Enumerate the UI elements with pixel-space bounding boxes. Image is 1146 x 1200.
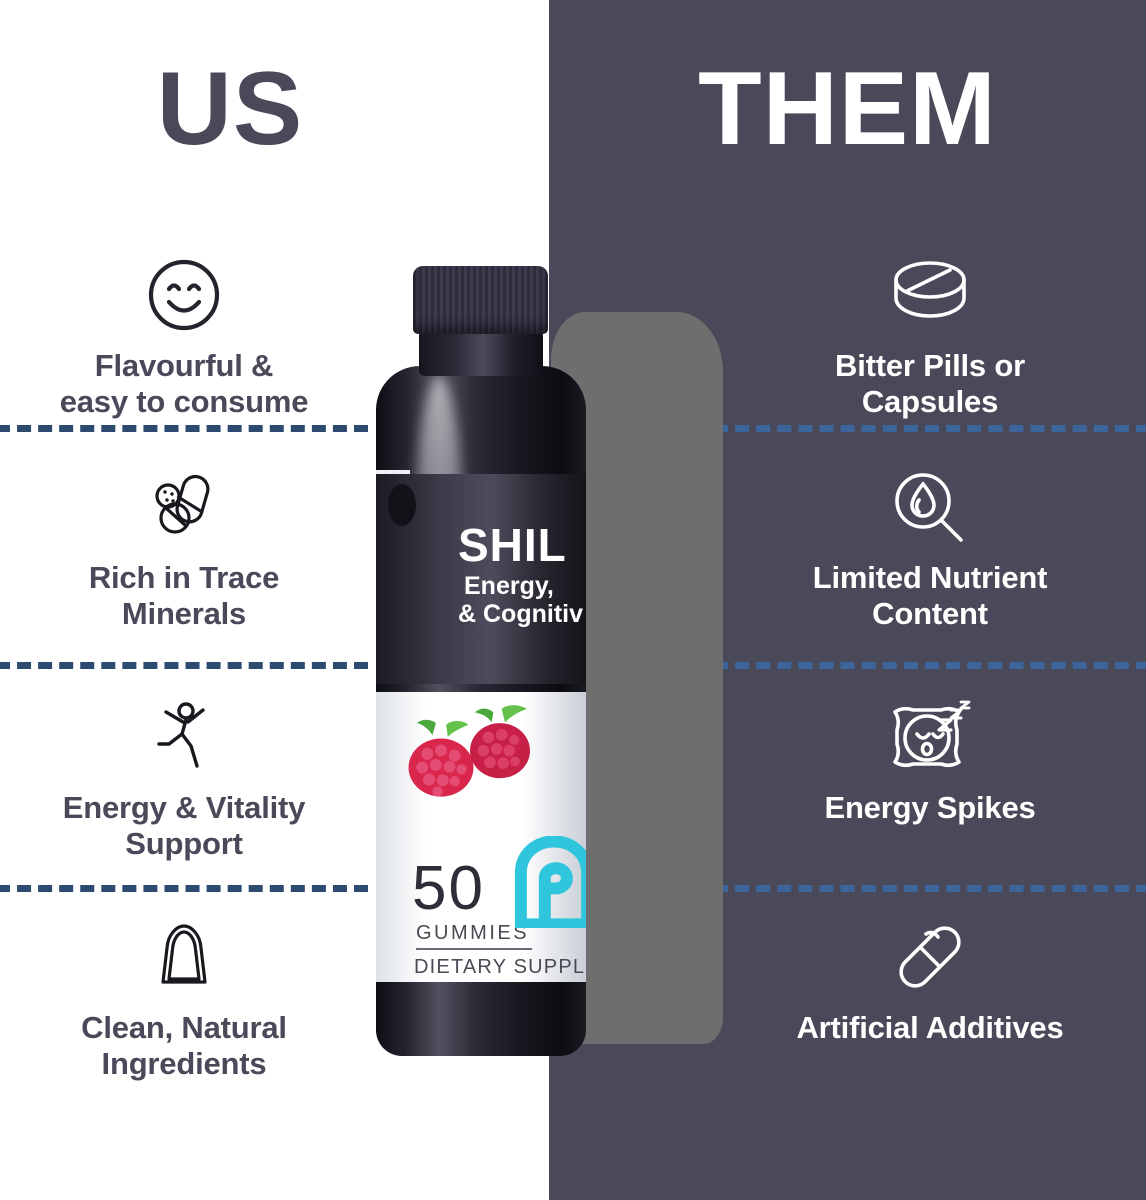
bottle-subtitle-line-2: & Cognitiv — [458, 600, 583, 629]
us-feature-minerals: Rich in Trace Minerals — [0, 470, 368, 632]
capsule-icon — [714, 920, 1146, 998]
us-feature-label: Flavourful & easy to consume — [60, 348, 309, 419]
raspberry-icon-2 — [458, 704, 542, 784]
us-feature-energy: Energy & Vitality Support — [0, 700, 368, 862]
sleeping-face-pillow-icon — [714, 700, 1146, 778]
us-feature-label: Energy & Vitality Support — [63, 790, 305, 861]
them-feature-limited-nutrient: Limited Nutrient Content — [714, 470, 1146, 632]
bottle-body: SHIL Energy, & Cognitiv — [376, 366, 586, 1056]
divider-right-2 — [714, 662, 1146, 669]
bottle-supplement-text: DIETARY SUPPLEME — [414, 956, 586, 979]
label-rule — [416, 948, 532, 950]
product-bottle-image: SHIL Energy, & Cognitiv — [349, 266, 599, 1056]
bottle-gummy-count: 50 — [412, 858, 485, 920]
tablet-pill-icon — [714, 258, 1146, 336]
us-feature-label: Clean, Natural Ingredients — [81, 1010, 287, 1081]
us-feature-natural: Clean, Natural Ingredients — [0, 920, 368, 1082]
them-feature-label: Bitter Pills or Capsules — [835, 348, 1025, 419]
bottle-neck — [419, 330, 543, 376]
them-feature-bitter-pills: Bitter Pills or Capsules — [714, 258, 1146, 420]
divider-left-3 — [0, 885, 368, 892]
smiley-face-icon — [0, 258, 368, 336]
comparison-infographic: US THEM SHIL Energy, & Cognitiv — [0, 0, 1146, 1200]
us-heading: US — [0, 57, 460, 161]
brand-logo-icon — [508, 836, 586, 928]
them-heading: THEM — [549, 57, 1146, 161]
us-feature-flavourful: Flavourful & easy to consume — [0, 258, 368, 420]
pills-tablets-icon — [0, 470, 368, 548]
divider-right-1 — [714, 425, 1146, 432]
leaf-natural-icon — [0, 920, 368, 998]
bottle-cap — [413, 266, 548, 334]
them-feature-energy-spikes: Energy Spikes — [714, 700, 1146, 826]
magnifier-droplet-icon — [714, 470, 1146, 548]
them-feature-label: Limited Nutrient Content — [813, 560, 1047, 631]
jumping-person-icon — [0, 700, 368, 778]
divider-right-3 — [714, 885, 1146, 892]
divider-left-2 — [0, 662, 368, 669]
them-feature-additives: Artificial Additives — [714, 920, 1146, 1046]
them-feature-label: Energy Spikes — [824, 790, 1035, 825]
us-feature-label: Rich in Trace Minerals — [89, 560, 279, 631]
them-feature-label: Artificial Additives — [796, 1010, 1063, 1045]
bottle-brand-name: SHIL — [458, 518, 567, 572]
divider-left-1 — [0, 425, 368, 432]
label-dot-accent — [388, 484, 416, 526]
bottle-subtitle-line-1: Energy, — [464, 572, 554, 601]
